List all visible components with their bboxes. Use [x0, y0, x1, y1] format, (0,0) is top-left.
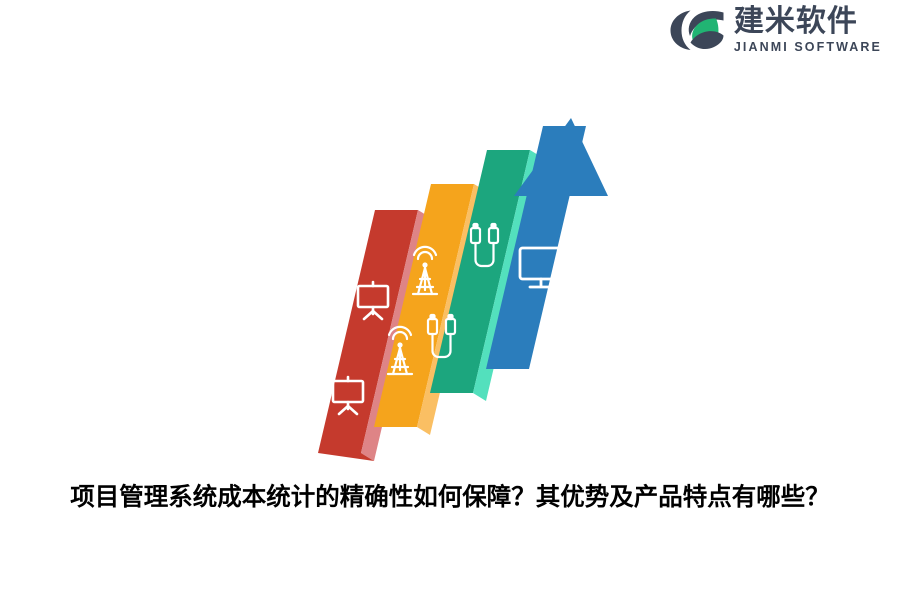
leaf-swoosh-logo-icon	[670, 9, 726, 51]
banner-page: 建米软件 JIANMI SOFTWARE	[0, 0, 900, 600]
brand-name-cn: 建米软件	[734, 6, 882, 38]
brand-logo: 建米软件 JIANMI SOFTWARE	[670, 6, 882, 53]
brand-logo-text: 建米软件 JIANMI SOFTWARE	[734, 6, 882, 53]
growth-arrow-infographic	[318, 118, 608, 463]
page-title: 项目管理系统成本统计的精确性如何保障？其优势及产品特点有哪些？	[0, 482, 900, 513]
brand-name-en: JIANMI SOFTWARE	[734, 41, 882, 54]
